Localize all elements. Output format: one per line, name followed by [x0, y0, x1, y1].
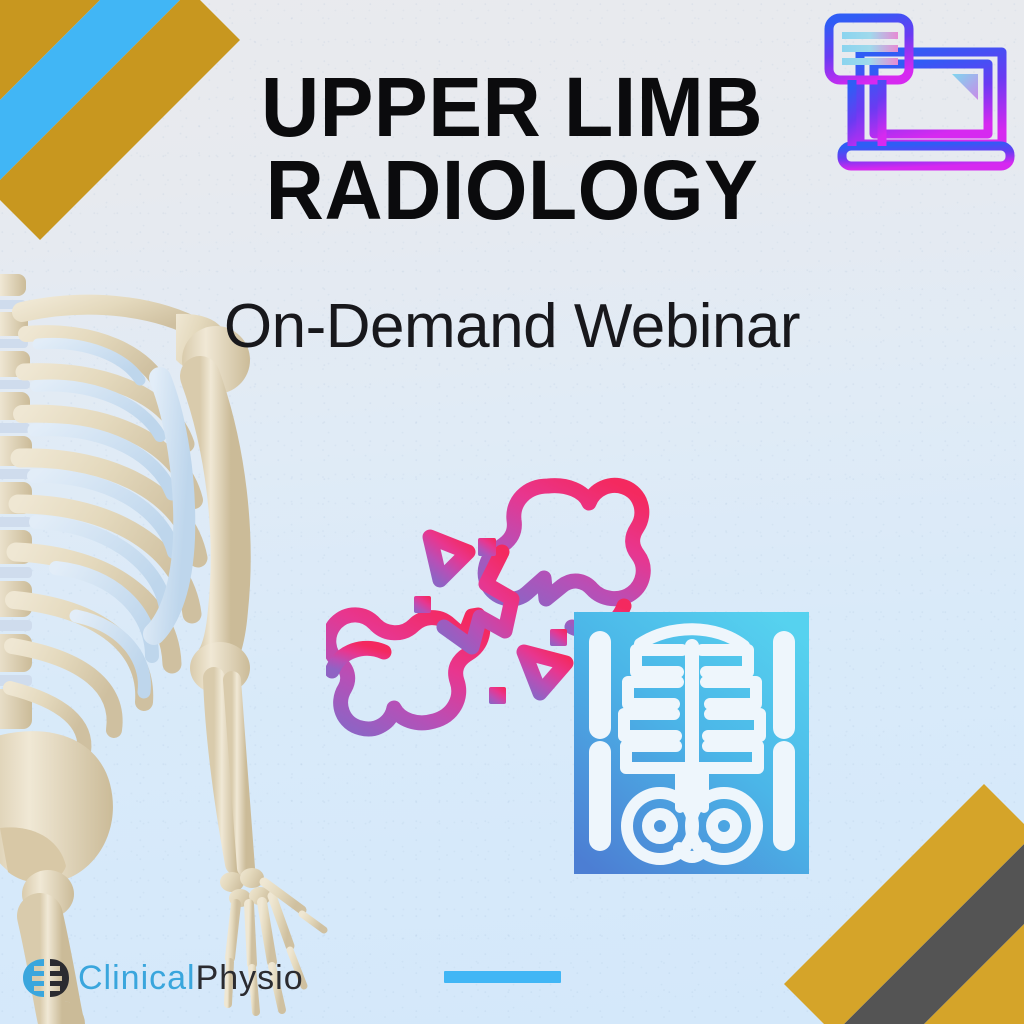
- page-corner-shape: [952, 74, 978, 100]
- logo-left-half: [23, 959, 44, 997]
- impact-arc-left: [332, 648, 384, 671]
- ribbon-stripe-gold-1: [874, 874, 1024, 1024]
- poster-canvas: UPPER LIMB RADIOLOGY On-Demand Webinar: [0, 0, 1024, 1024]
- monitor-line-3: [842, 58, 898, 65]
- spine-logo-icon: [20, 955, 72, 1001]
- spark-triangle-lower: [524, 652, 566, 693]
- spark-square-3: [550, 629, 567, 646]
- monitor-stand: [852, 80, 882, 146]
- brand-name-part-1: Clinical: [78, 959, 196, 997]
- laptop-monitor-icon: [812, 8, 1018, 178]
- page-subtitle: On-Demand Webinar: [0, 291, 1024, 362]
- bone-fragment-upper: [485, 485, 643, 599]
- laptop-base: [842, 146, 1010, 166]
- skeleton-upper-limb-photo: [0, 268, 344, 1024]
- spark-square-1: [478, 538, 496, 556]
- monitor-line-2: [842, 45, 898, 52]
- brand-name: ClinicalPhysio: [78, 959, 304, 998]
- accent-bar: [444, 971, 561, 983]
- ribbon-stripe-gold-2: [784, 784, 1024, 1024]
- xray-chest-icon: [574, 612, 809, 874]
- monitor-line-1: [842, 32, 898, 39]
- brand-name-part-2: Physio: [196, 959, 304, 997]
- ribbon-stripe-gray: [834, 834, 1024, 1024]
- logo-right-half: [50, 959, 69, 997]
- spark-triangle-upper: [430, 537, 468, 580]
- spark-square-2: [414, 596, 431, 613]
- spark-square-4: [489, 687, 506, 704]
- brand-logo[interactable]: ClinicalPhysio: [20, 955, 304, 1001]
- humerus: [200, 376, 231, 660]
